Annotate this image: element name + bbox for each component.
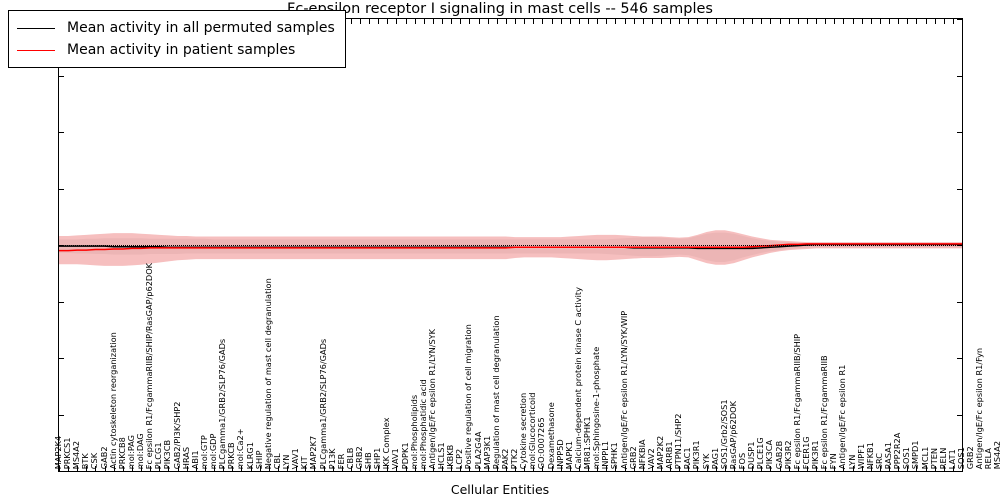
y-tick-mark [957, 302, 962, 303]
x-tick-mark [387, 19, 388, 24]
x-category-label: RasGAP/p62DOK [729, 401, 737, 469]
x-category-label: MAP2K7 [309, 436, 317, 469]
x-category-label: mol:Phosphatidic acid [419, 379, 427, 469]
x-category-label: GRB2 [355, 446, 363, 469]
x-category-label: LYN [282, 454, 290, 469]
y-tick-mark [59, 471, 64, 472]
x-tick-mark [606, 19, 607, 24]
x-tick-mark [406, 19, 407, 24]
zero-reference-line [59, 245, 962, 246]
y-tick-mark [957, 189, 962, 190]
x-category-label: Regulation of mast cell degranulation [492, 315, 500, 469]
x-tick-mark [697, 19, 698, 24]
y-tick-mark [957, 471, 962, 472]
x-tick-mark [469, 19, 470, 24]
x-tick-mark [871, 19, 872, 24]
x-tick-mark [816, 19, 817, 24]
x-category-label: VAV1 [391, 448, 399, 469]
x-category-label: NFKBIA [638, 439, 646, 469]
chart-legend: Mean activity in all permuted samples Me… [8, 10, 346, 68]
x-category-label: Antigen/IgE/Fc epsilon R1/LYN/SYK [428, 329, 436, 469]
y-tick-mark [59, 189, 64, 190]
x-tick-mark [935, 19, 936, 24]
x-axis-label: Cellular Entities [0, 482, 1000, 497]
x-tick-mark [707, 19, 708, 24]
legend-item-patient: Mean activity in patient samples [17, 39, 335, 61]
x-tick-mark [743, 19, 744, 24]
x-tick-mark [515, 19, 516, 24]
x-category-label: RASA1 [884, 442, 892, 469]
x-category-label: Fc epsilon R1/FcgammaRIIB [820, 355, 828, 469]
x-category-label: PIK3R1 [692, 440, 700, 469]
x-category-label: mol:Ca2+ [236, 428, 244, 469]
x-category-label: Dexamethasone [546, 402, 554, 469]
y-tick-mark [59, 358, 64, 359]
x-tick-mark [488, 19, 489, 24]
x-category-label: GAB2B [774, 441, 782, 469]
x-tick-mark [825, 19, 826, 24]
x-category-label: Positive regulation of cell migration [464, 324, 472, 469]
x-tick-mark [670, 19, 671, 24]
x-tick-mark [789, 19, 790, 24]
x-category-label: MAP2K2 [656, 436, 664, 469]
x-tick-mark [962, 19, 963, 24]
y-tick-mark [59, 245, 64, 246]
x-tick-mark [916, 19, 917, 24]
x-category-label: mol:Phospholipids [410, 395, 418, 469]
x-category-label: NFKB1 [866, 442, 874, 469]
x-tick-mark [369, 19, 370, 24]
x-category-label: Negative regulation of mast cell degranu… [264, 278, 272, 469]
x-category-label: ABI1 [191, 450, 199, 469]
x-tick-mark [725, 19, 726, 24]
x-tick-mark [424, 19, 425, 24]
x-category-label: INPP5D [555, 439, 563, 469]
x-category-label: GAB2/PI3K/SHP2 [172, 401, 180, 469]
x-category-label: CBL [273, 453, 281, 469]
x-category-label: SMPD1 [911, 440, 919, 469]
x-category-label: KLRG1 [245, 442, 253, 469]
x-category-label: PTEN [929, 448, 937, 469]
x-category-label: PLA2G4A [473, 431, 481, 469]
x-tick-mark [716, 19, 717, 24]
x-category-label: PAK2 [501, 448, 509, 469]
x-tick-mark [524, 19, 525, 24]
x-tick-mark [561, 19, 562, 24]
x-category-label: MAP3K1 [482, 436, 490, 469]
x-tick-mark [378, 19, 379, 24]
x-tick-mark [688, 19, 689, 24]
x-category-label: Actin cytoskeleton reorganization [109, 332, 117, 469]
x-tick-mark [843, 19, 844, 24]
x-tick-mark [433, 19, 434, 24]
x-category-label: MAPK1 [565, 441, 573, 469]
x-category-label: PRKCB8 [118, 437, 126, 469]
x-category-label: MCL1 [920, 446, 928, 469]
legend-item-permuted: Mean activity in all permuted samples [17, 17, 335, 39]
x-tick-mark [615, 19, 616, 24]
x-category-label: SOS1 [957, 447, 965, 469]
x-category-label: LYN [847, 454, 855, 469]
plot-area: MAP2K4PRKCS1MS4A2BTKCSKGAB2Actin cytoske… [58, 18, 963, 472]
x-tick-mark [396, 19, 397, 24]
x-category-label: PIK3CB [163, 440, 171, 469]
x-tick-mark [853, 19, 854, 24]
x-category-label: LAT1 [948, 449, 956, 469]
x-category-label: Antigen/IgE/Fc epsilon R1 [838, 364, 846, 469]
x-tick-mark [460, 19, 461, 24]
x-tick-mark [679, 19, 680, 24]
x-category-label: SHIP [254, 450, 262, 469]
x-category-label: P13K [327, 448, 335, 469]
x-category-label: MR81:SPHK1 [583, 416, 591, 469]
x-category-label: GAB2 [99, 446, 107, 469]
y-tick-mark [957, 245, 962, 246]
x-tick-mark [552, 19, 553, 24]
y-tick-mark [59, 302, 64, 303]
legend-line-swatch-permuted [17, 28, 55, 29]
x-tick-mark [944, 19, 945, 24]
x-tick-mark [770, 19, 771, 24]
x-tick-mark [643, 19, 644, 24]
x-tick-mark [661, 19, 662, 24]
x-tick-mark [442, 19, 443, 24]
y-tick-mark [59, 132, 64, 133]
y-tick-mark [59, 76, 64, 77]
x-category-label: RELN [939, 447, 947, 469]
x-tick-mark [862, 19, 863, 24]
x-category-label: WIPF1 [856, 444, 864, 469]
x-tick-mark [360, 19, 361, 24]
x-tick-mark [734, 19, 735, 24]
x-category-label: GO:0007265 [537, 417, 545, 469]
legend-line-swatch-patient [17, 50, 55, 51]
x-category-label: PAG1 [711, 448, 719, 469]
x-category-label: Fc epsilon R1/FcgammaRIIB/SHIP [793, 334, 801, 469]
x-category-label: PLCgamma1/GRB2/SLP76/GADs [318, 339, 326, 469]
x-category-label: mol:GTP [200, 435, 208, 469]
x-tick-mark [579, 19, 580, 24]
x-tick-mark [570, 19, 571, 24]
x-tick-mark [807, 19, 808, 24]
x-tick-mark [634, 19, 635, 24]
legend-label-permuted: Mean activity in all permuted samples [67, 20, 335, 36]
x-category-label: Fc epsilon R1/FcgammaRIIB/SHIP/RasGAP/p6… [145, 263, 153, 469]
x-category-label: SPHK1 [610, 442, 618, 469]
x-tick-mark [652, 19, 653, 24]
x-category-label: Antigen/IgE/Fc epsilon R1/LYN/SYK/WIP [619, 311, 627, 469]
x-tick-mark [898, 19, 899, 24]
x-tick-mark [542, 19, 543, 24]
y-tick-mark [957, 132, 962, 133]
x-category-label: mol:PAG [127, 435, 135, 469]
x-category-label: VAV2 [647, 448, 655, 469]
x-tick-mark [415, 19, 416, 24]
x-tick-mark [625, 19, 626, 24]
x-tick-mark [351, 19, 352, 24]
x-tick-mark [926, 19, 927, 24]
x-tick-mark [880, 19, 881, 24]
x-category-label: SYK [701, 453, 709, 469]
x-category-label: FER [337, 453, 345, 469]
x-tick-mark [761, 19, 762, 24]
x-tick-mark [451, 19, 452, 24]
x-category-label: CSK [90, 453, 98, 469]
x-category-label: MAP2K4 [54, 436, 62, 469]
x-category-label: PIK3CA [765, 440, 773, 469]
x-category-label: Calcium-dependent protein kinase C activ… [574, 287, 582, 469]
x-category-label: PIK3R2 [783, 440, 791, 469]
x-tick-mark [780, 19, 781, 24]
x-category-label: PDPK1 [400, 442, 408, 469]
x-tick-mark [889, 19, 890, 24]
x-tick-mark [907, 19, 908, 24]
x-category-label: SOS1/Grb2/SOS1 [720, 399, 728, 469]
x-tick-mark [506, 19, 507, 24]
chart-root: Fc-epsilon receptor I signaling in mast … [0, 0, 1000, 500]
x-category-label: GRB2 [628, 446, 636, 469]
legend-label-patient: Mean activity in patient samples [67, 42, 295, 58]
x-tick-mark [834, 19, 835, 24]
x-category-label: MS4A2 [993, 441, 1000, 469]
x-tick-mark [533, 19, 534, 24]
x-category-label: SRC [875, 453, 883, 469]
x-tick-mark [597, 19, 598, 24]
x-tick-mark [953, 19, 954, 24]
x-tick-mark [479, 19, 480, 24]
x-category-label: HRAS [181, 447, 189, 469]
x-tick-mark [752, 19, 753, 24]
x-tick-mark [497, 19, 498, 24]
y-tick-mark [59, 415, 64, 416]
x-category-label: CBLB [346, 447, 354, 469]
y-tick-mark [957, 415, 962, 416]
y-tick-mark [957, 358, 962, 359]
x-tick-mark [588, 19, 589, 24]
x-category-label: FCER1G [802, 436, 810, 469]
x-tick-mark [798, 19, 799, 24]
y-tick-mark [957, 76, 962, 77]
